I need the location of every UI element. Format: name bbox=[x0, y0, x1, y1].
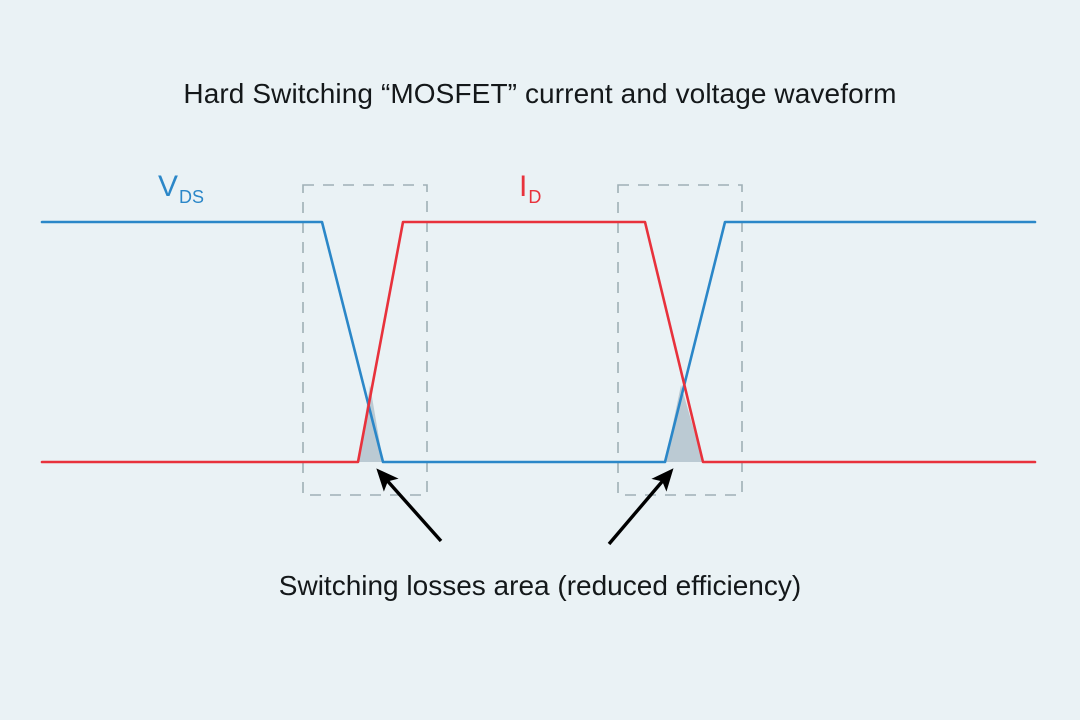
vds-series-label: VDS bbox=[158, 172, 203, 202]
vds-label-main: V bbox=[158, 170, 178, 203]
id-waveform-trace bbox=[42, 222, 1035, 462]
id-label-main: I bbox=[519, 170, 527, 203]
id-label-subscript: D bbox=[528, 187, 541, 207]
figure-caption: Switching losses area (reduced efficienc… bbox=[0, 570, 1080, 602]
switching-loss-areas bbox=[358, 385, 703, 462]
page-title: Hard Switching “MOSFET” current and volt… bbox=[0, 78, 1080, 110]
vds-label-subscript: DS bbox=[179, 187, 204, 207]
loss-area-pointer-1 bbox=[384, 477, 441, 541]
vds-waveform-trace bbox=[42, 222, 1035, 462]
id-series-label: ID bbox=[519, 172, 540, 202]
diagram-canvas: Hard Switching “MOSFET” current and volt… bbox=[0, 0, 1080, 720]
switching-loss-area-2 bbox=[665, 385, 703, 462]
